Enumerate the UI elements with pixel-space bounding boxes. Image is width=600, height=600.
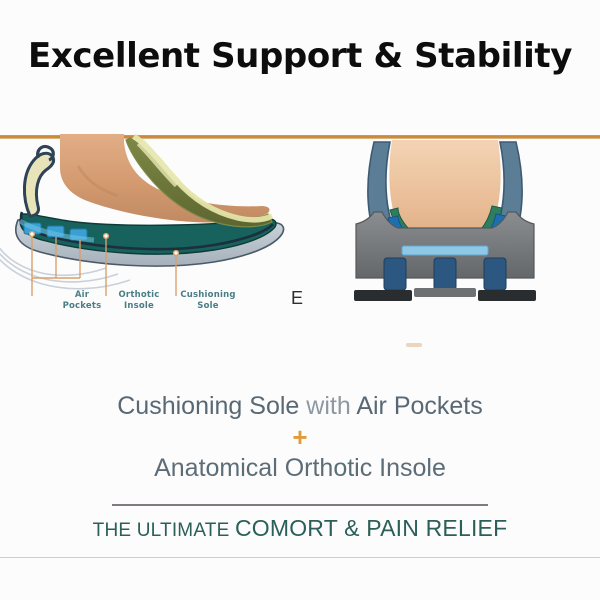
callout-line-2: Insole <box>104 301 174 312</box>
page-title: Excellent Support & Stability <box>0 36 600 76</box>
cushion-strip <box>402 246 488 255</box>
callout-line-1: Cushioning <box>173 290 243 301</box>
callout-line-1: Orthotic <box>104 290 174 301</box>
promo-image: Excellent Support & Stability <box>0 0 600 600</box>
callout-orthotic-insole: Orthotic Insole <box>104 290 174 312</box>
foot-in-sandal-side-illustration <box>0 128 312 308</box>
callout-cushioning-sole: Cushioning Sole <box>173 290 243 312</box>
tagline: THE ULTIMATE COMORT & PAIN RELIEF <box>0 515 600 542</box>
benefit-line-two: Anatomical Orthotic Insole <box>0 454 600 483</box>
stray-letter-artifact: E <box>291 288 303 309</box>
horizontal-divider <box>112 504 488 506</box>
heel-counter <box>24 153 53 216</box>
air-pockets-group-rear <box>384 258 506 290</box>
tagline-prefix: THE ULTIMATE <box>93 520 235 541</box>
benefit-line-one: Cushioning Sole with Air Pockets <box>0 392 600 421</box>
tread-group <box>354 288 536 301</box>
benefit-air-pockets: Air Pockets <box>356 392 482 420</box>
bottom-rule <box>0 557 600 558</box>
plus-icon: + <box>0 424 600 450</box>
heel-in-shoe-rear-illustration <box>330 128 560 313</box>
tan-smudge-artifact <box>406 343 422 347</box>
tagline-main: COMORT & PAIN RELIEF <box>235 515 507 541</box>
benefit-cushioning-sole: Cushioning Sole <box>117 392 299 420</box>
benefit-connector: with <box>299 392 356 420</box>
callout-line-2: Sole <box>173 301 243 312</box>
